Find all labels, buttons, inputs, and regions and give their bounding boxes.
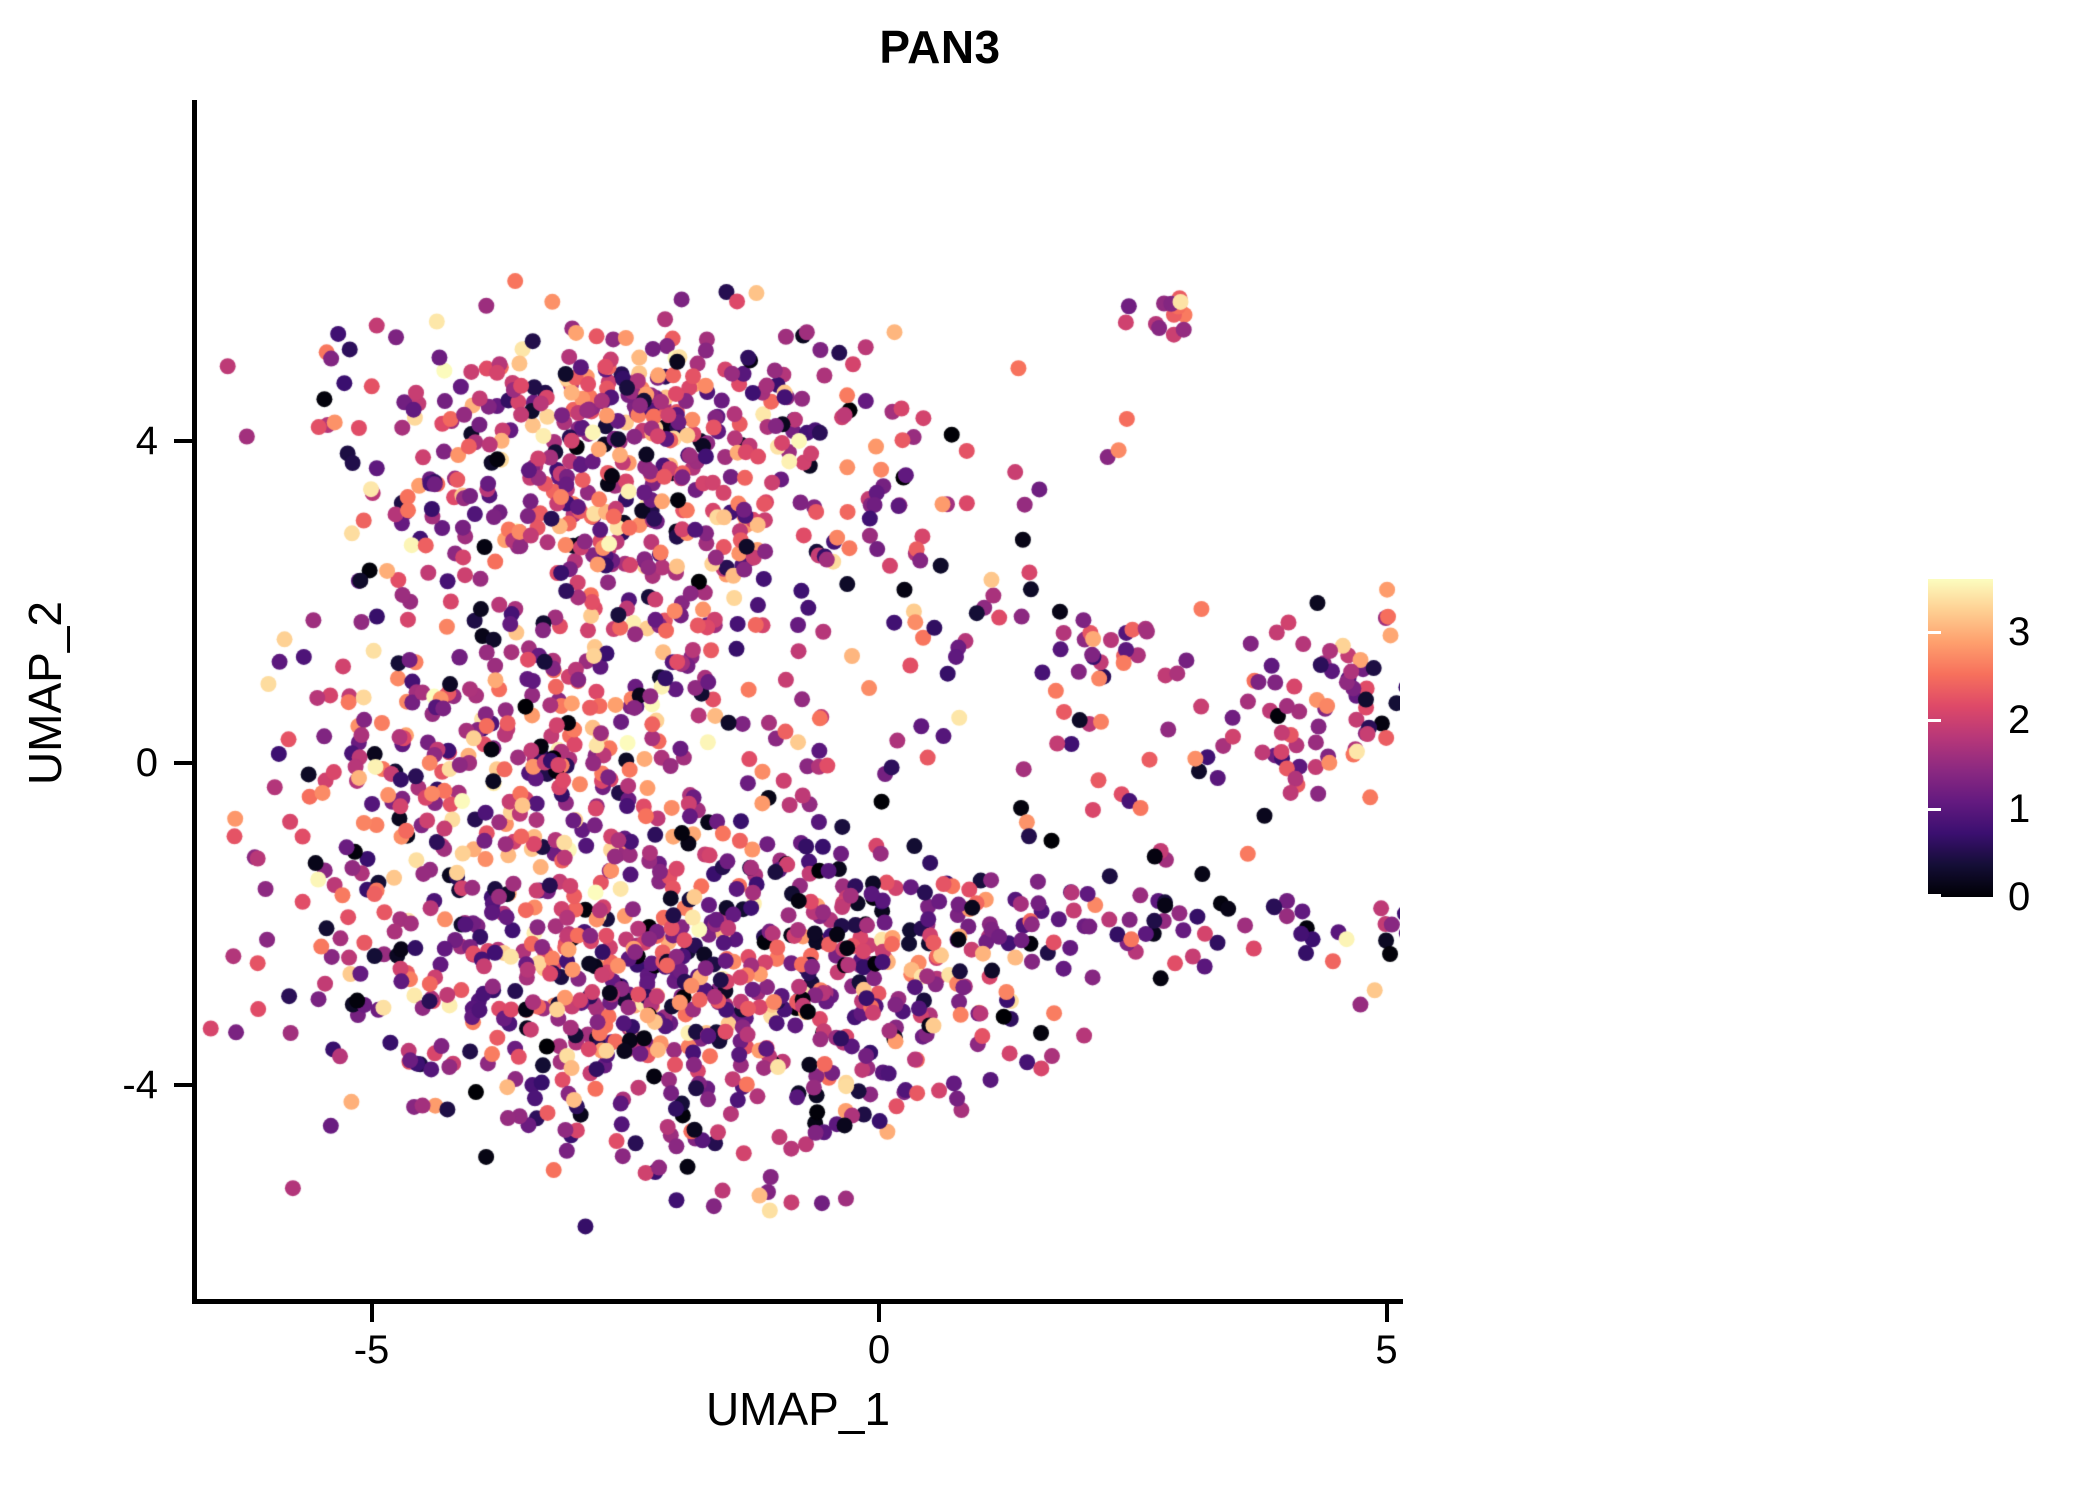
- y-tick-mark: [174, 1083, 192, 1087]
- x-tick-mark: [1385, 1304, 1389, 1322]
- colorbar-tick-mark: [1928, 631, 1941, 634]
- x-tick-mark: [877, 1304, 881, 1322]
- colorbar-tick-label: 2: [2008, 700, 2088, 740]
- x-tick-mark: [370, 1304, 374, 1322]
- colorbar-tick-label: 0: [2008, 877, 2088, 917]
- umap-feature-plot: PAN3 40-4 -505 UMAP_1 UMAP_2 3210: [0, 0, 2100, 1500]
- x-tick-label: -5: [307, 1330, 437, 1370]
- x-tick-label: 5: [1322, 1330, 1452, 1370]
- colorbar-tick-mark: [1928, 719, 1941, 722]
- x-axis-line: [192, 1299, 1403, 1304]
- colorbar-gradient: [1928, 579, 1993, 897]
- x-tick-label: 0: [814, 1330, 944, 1370]
- colorbar-tick-label: 3: [2008, 612, 2088, 652]
- y-tick-mark: [174, 761, 192, 765]
- y-axis-line: [192, 100, 197, 1304]
- colorbar-tick-label: 1: [2008, 789, 2088, 829]
- y-tick-label: -4: [28, 1065, 158, 1105]
- y-tick-mark: [174, 439, 192, 443]
- colorbar-tick-mark: [1928, 808, 1941, 811]
- scatter-points-layer: [196, 100, 1400, 1303]
- y-axis-title: UMAP_2: [20, 373, 70, 1013]
- x-axis-title: UMAP_1: [196, 1384, 1400, 1434]
- colorbar-legend: 3210: [1928, 579, 2088, 899]
- plot-panel: [196, 100, 1400, 1303]
- page-title: PAN3: [0, 22, 1880, 73]
- colorbar-tick-mark: [1928, 894, 1941, 897]
